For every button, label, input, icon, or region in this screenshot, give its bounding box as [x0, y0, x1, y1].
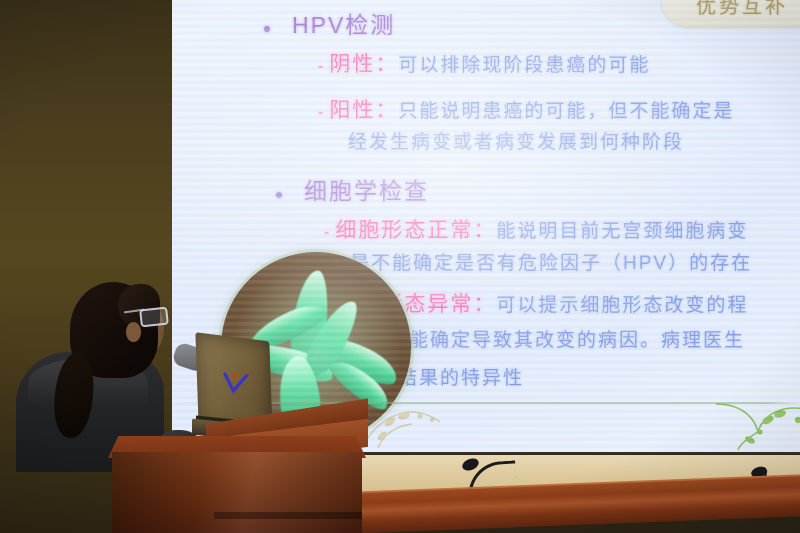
slide-item-hpv-positive: -阳性：只能说明患癌的可能，但不能确定是 [318, 94, 734, 124]
item-body: 能说明目前无宫颈细胞病变 [496, 221, 748, 242]
item-label: 阳性： [329, 99, 398, 122]
slide-bullet-heading-hpv: HPV检测 [264, 6, 395, 40]
podium-shadow-shelf [214, 512, 362, 519]
dash-marker: - [318, 58, 323, 75]
slide-item-cell-normal: -细胞形态正常：能说明目前无宫颈细胞病变 [324, 214, 748, 244]
laptop-v-logo-icon [220, 372, 250, 397]
presenter-ear [126, 322, 141, 342]
item-body: 可以提示细胞形态改变的程 [496, 295, 748, 316]
bullet-dot-icon [276, 192, 282, 198]
item-label: 阴性： [329, 53, 398, 76]
item-body: 是不能确定是否有危险因子（HPV）的存在 [350, 253, 752, 274]
slide-vine-ornament-left [360, 404, 456, 455]
item-body: 只能说明患癌的可能，但不能确定是 [398, 101, 734, 122]
slide-title-text: 优势互补 [696, 0, 788, 19]
slide-item-hpv-negative: -阴性：可以排除现阶段患癌的可能 [318, 48, 650, 78]
slide-title-banner: 优势互补 [662, 0, 800, 27]
item-body: 经发生病变或者病变发展到何种阶段 [348, 132, 684, 153]
podium-body [112, 452, 362, 533]
slide-vine-ornament-right [714, 398, 800, 457]
slide-item-hpv-positive-cont: 经发生病变或者病变发展到何种阶段 [348, 127, 684, 154]
lecture-hall-photo: 优势互补 HPV检测 -阴性：可以排除现阶段患癌的可能 -阳性：只能说明患癌的可… [0, 0, 800, 533]
item-label: 细胞形态正常： [335, 219, 496, 242]
dash-marker: - [324, 224, 329, 241]
bullet-dot-icon [264, 26, 270, 32]
dash-marker: - [318, 104, 323, 121]
slide-item-cell-normal-cont: 是不能确定是否有危险因子（HPV）的存在 [350, 248, 752, 275]
heading-text: 细胞学检查 [304, 178, 429, 204]
heading-text: HPV检测 [292, 12, 395, 38]
slide-bullet-heading-cytology: 细胞学检查 [276, 172, 429, 206]
item-body: 可以排除现阶段患癌的可能 [398, 55, 650, 76]
